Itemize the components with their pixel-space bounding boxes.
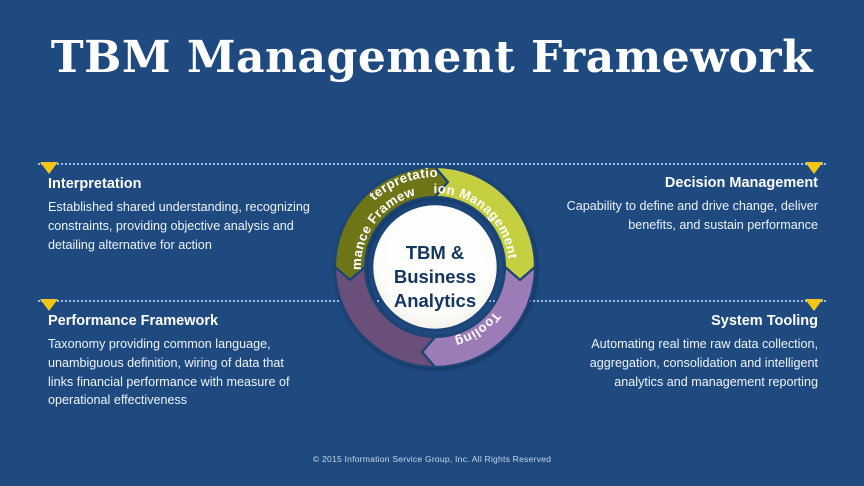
quadrant-decision-management: Decision Management Capability to define… [556,175,818,235]
quadrant-heading: System Tooling [556,313,818,330]
donut-svg: Interpretation Decision Management Tooli… [327,159,543,375]
center-text-line1: TBM & [406,242,465,263]
quadrant-body: Established shared understanding, recogn… [48,198,310,254]
quadrant-body: Capability to define and drive change, d… [556,197,818,234]
marker-triangle-bottom-right [805,299,823,311]
slide-canvas: TBM Management Framework Interpretation … [0,0,864,486]
center-text-line3: Analytics [394,290,476,311]
quadrant-body: Automating real time raw data collection… [556,335,818,391]
quadrant-heading: Performance Framework [48,313,310,330]
tbm-cycle-donut-chart: Interpretation Decision Management Tooli… [327,159,543,375]
quadrant-interpretation: Interpretation Established shared unders… [48,176,310,254]
marker-triangle-top-right [805,162,823,174]
marker-triangle-bottom-left [40,299,58,311]
quadrant-heading: Decision Management [556,175,818,192]
copyright-footer: © 2015 Information Service Group, Inc. A… [0,454,864,464]
quadrant-performance-framework: Performance Framework Taxonomy providing… [48,313,310,410]
quadrant-system-tooling: System Tooling Automating real time raw … [556,313,818,391]
quadrant-heading: Interpretation [48,176,310,193]
marker-triangle-top-left [40,162,58,174]
page-title: TBM Management Framework [0,36,864,80]
center-text-line2: Business [394,266,476,287]
quadrant-body: Taxonomy providing common language, unam… [48,335,310,410]
